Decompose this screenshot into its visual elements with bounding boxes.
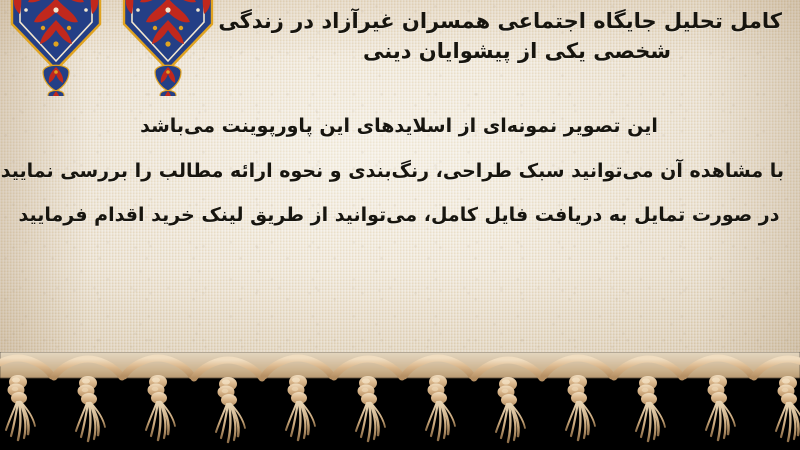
tassel-0: [0, 358, 52, 440]
tassel-6: [404, 358, 472, 440]
tassel-1: [54, 359, 122, 441]
tassel-7: [474, 360, 542, 442]
tassel-10: [684, 358, 752, 440]
slide-title: کامل تحلیل جایگاه اجتماعی همسران غیرآزاد…: [252, 6, 782, 67]
slide-title-line-2: شخصی یکی از پیشوایان دینی: [252, 36, 782, 66]
slide-body-line-3: در صورت تمایل به دریافت فایل کامل، می‌تو…: [14, 193, 784, 238]
tassel-9: [614, 359, 682, 441]
carpet-fringe-zone: [0, 352, 800, 450]
slide-title-line-1: کامل تحلیل جایگاه اجتماعی همسران غیرآزاد…: [252, 6, 782, 36]
slide-body: این تصویر نمونه‌ای از اسلایدهای این پاور…: [14, 104, 784, 238]
tassel-11: [754, 359, 800, 441]
tassel-8: [544, 358, 612, 440]
slide-body-line-2: با مشاهده آن می‌توانید سبک طراحی، رنگ‌بن…: [14, 149, 784, 194]
tassel-4: [264, 358, 332, 440]
fringe-tassels: [0, 352, 800, 450]
slide-canvas: کامل تحلیل جایگاه اجتماعی همسران غیرآزاد…: [0, 0, 800, 450]
tassel-2: [124, 358, 192, 440]
tassel-5: [334, 359, 402, 441]
slide-body-line-1: این تصویر نمونه‌ای از اسلایدهای این پاور…: [14, 104, 784, 149]
tassel-3: [194, 360, 262, 442]
